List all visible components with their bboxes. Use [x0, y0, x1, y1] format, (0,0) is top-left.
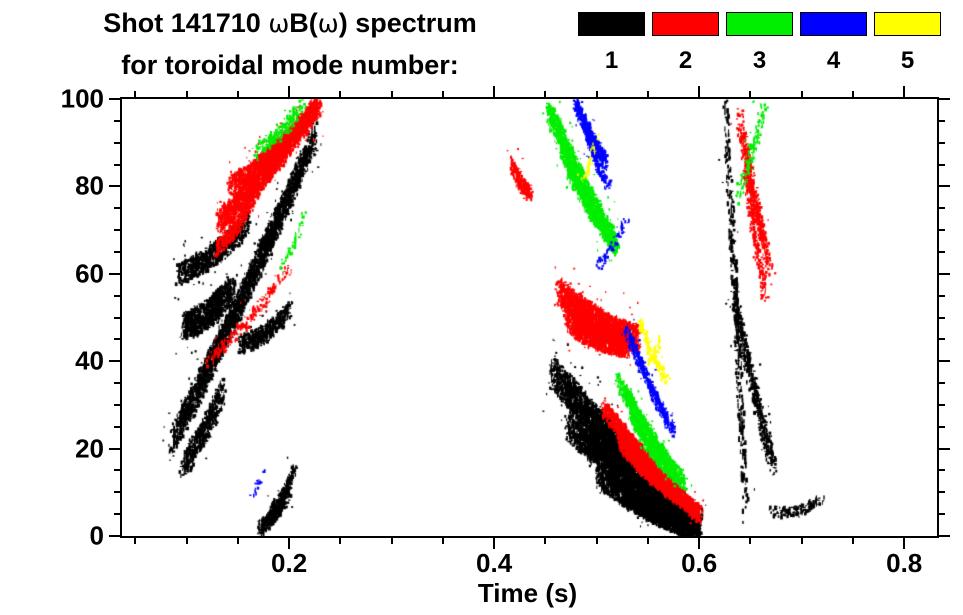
legend-swatch-1 [578, 12, 645, 36]
y-tick [937, 120, 945, 122]
legend-swatch-2 [652, 12, 719, 36]
legend-entry-2: 2 [652, 12, 719, 82]
y-tick [114, 404, 122, 406]
legend-swatch-5 [874, 12, 941, 36]
y-tick [109, 360, 122, 362]
y-tick [937, 317, 945, 319]
y-tick [937, 98, 950, 100]
x-axis-title: Time (s) [120, 578, 935, 609]
x-tick [544, 91, 546, 99]
y-tick [937, 229, 945, 231]
x-tick [391, 91, 393, 99]
y-tick [114, 491, 122, 493]
y-tick [937, 535, 950, 537]
y-tick [114, 120, 122, 122]
legend-entry-5: 5 [874, 12, 941, 82]
x-tick [801, 91, 803, 99]
legend-swatch-4 [800, 12, 867, 36]
legend-entry-1: 1 [578, 12, 645, 82]
y-tick [937, 185, 950, 187]
y-tick [114, 295, 122, 297]
x-tick [647, 91, 649, 99]
y-tick-label: 80 [75, 171, 104, 202]
plot-area: 0204060801000.20.40.60.8 [120, 97, 939, 538]
y-tick [114, 207, 122, 209]
spectrogram-figure: Shot 141710 ωB(ω) spectrum for toroidal … [0, 0, 963, 615]
y-tick [114, 142, 122, 144]
x-tick [647, 536, 649, 544]
x-tick-label: 0.6 [681, 548, 717, 579]
x-tick [186, 536, 188, 544]
x-tick [698, 86, 700, 99]
x-tick [852, 536, 854, 544]
y-tick [937, 491, 945, 493]
y-tick [937, 382, 945, 384]
x-tick [339, 91, 341, 99]
y-tick [114, 382, 122, 384]
y-tick [937, 142, 945, 144]
y-tick [937, 513, 945, 515]
y-tick [109, 535, 122, 537]
y-tick-label: 100 [61, 84, 104, 115]
x-tick [442, 91, 444, 99]
y-tick [937, 251, 945, 253]
x-tick [339, 536, 341, 544]
y-tick [937, 207, 945, 209]
y-tick [937, 338, 945, 340]
legend-swatch-3 [726, 12, 793, 36]
y-tick [937, 448, 950, 450]
y-tick [114, 469, 122, 471]
y-tick-label: 40 [75, 346, 104, 377]
legend-label-3: 3 [726, 49, 793, 73]
y-tick [937, 273, 950, 275]
x-tick-label: 0.4 [476, 548, 512, 579]
y-tick [114, 317, 122, 319]
y-tick [114, 338, 122, 340]
x-tick-label: 0.2 [271, 548, 307, 579]
legend: 12345 [578, 12, 963, 87]
legend-entry-4: 4 [800, 12, 867, 82]
figure-title-line-1: Shot 141710 ωB(ω) spectrum [0, 8, 580, 39]
x-tick [134, 536, 136, 544]
legend-entry-3: 3 [726, 12, 793, 82]
legend-label-5: 5 [874, 49, 941, 73]
y-tick [109, 273, 122, 275]
y-tick-label: 20 [75, 433, 104, 464]
y-tick [937, 426, 945, 428]
x-tick [493, 86, 495, 99]
y-tick [109, 448, 122, 450]
x-tick-label: 0.8 [886, 548, 922, 579]
x-tick [442, 536, 444, 544]
y-tick [937, 404, 945, 406]
title-shot-text: Shot 141710 [103, 8, 268, 38]
x-tick [186, 91, 188, 99]
legend-label-2: 2 [652, 49, 719, 73]
x-tick [801, 536, 803, 544]
x-tick [596, 91, 598, 99]
spectrogram-canvas [122, 99, 937, 536]
x-tick [391, 536, 393, 544]
y-tick [114, 229, 122, 231]
y-tick [109, 185, 122, 187]
x-tick [237, 91, 239, 99]
x-tick [903, 86, 905, 99]
x-tick [134, 91, 136, 99]
x-tick [544, 536, 546, 544]
y-tick [937, 469, 945, 471]
y-tick [114, 164, 122, 166]
y-tick-label: 0 [90, 521, 104, 552]
legend-label-1: 1 [578, 49, 645, 73]
y-tick [109, 98, 122, 100]
y-tick [114, 251, 122, 253]
title-b-text: B( [289, 8, 318, 38]
x-tick [749, 91, 751, 99]
omega-symbol-2: ω [318, 9, 339, 38]
x-tick [288, 86, 290, 99]
x-tick [749, 536, 751, 544]
y-tick [937, 164, 945, 166]
legend-label-4: 4 [800, 49, 867, 73]
x-tick [237, 536, 239, 544]
title-close-text: ) spectrum [339, 8, 477, 38]
y-tick [114, 426, 122, 428]
y-tick [937, 360, 950, 362]
x-tick [852, 91, 854, 99]
omega-symbol-1: ω [268, 9, 289, 38]
y-tick [937, 295, 945, 297]
y-tick-label: 60 [75, 258, 104, 289]
figure-title-line-2: for toroidal mode number: [0, 50, 580, 81]
y-tick [114, 513, 122, 515]
x-tick [596, 536, 598, 544]
